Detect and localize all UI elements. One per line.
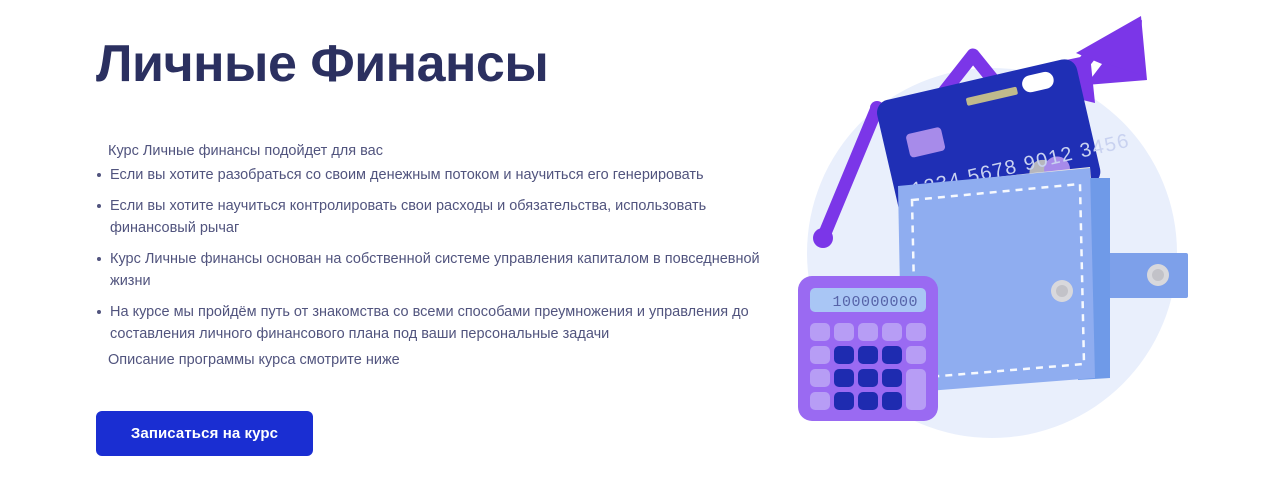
bullet-dot-icon <box>97 310 101 314</box>
list-item: Если вы хотите разобраться со своим дене… <box>96 164 768 186</box>
page-title: Личные Финансы <box>96 34 548 94</box>
list-item-label: Если вы хотите разобраться со своим дене… <box>110 167 704 183</box>
list-item: Если вы хотите научиться контролировать … <box>96 195 768 239</box>
enroll-course-button[interactable]: Записаться на курс <box>96 411 313 456</box>
hero-content: Личные Финансы Курс Личные финансы подой… <box>96 0 776 484</box>
page-root: Личные Финансы Курс Личные финансы подой… <box>0 0 1280 484</box>
bullet-dot-icon <box>97 173 101 177</box>
list-item: На курсе мы пройдём путь от знакомства с… <box>96 301 768 345</box>
personal-finance-illustration: 1234 5678 9012 3456 <box>790 8 1190 478</box>
list-item: Курс Личные финансы основан на собственн… <box>96 248 768 292</box>
calculator-icon: 100000000 <box>798 276 938 421</box>
calculator-display-value: 100000000 <box>832 294 918 311</box>
lead-paragraph: Курс Личные финансы подойдет для вас <box>108 141 383 161</box>
list-item-label: Если вы хотите научиться контролировать … <box>110 198 706 236</box>
list-item-label: Курс Личные финансы основан на собственн… <box>110 251 760 289</box>
bullet-dot-icon <box>97 257 101 261</box>
program-footnote: Описание программы курса смотрите ниже <box>108 350 400 370</box>
benefits-list: Если вы хотите разобраться со своим дене… <box>96 164 768 354</box>
list-item-label: На курсе мы пройдём путь от знакомства с… <box>110 304 749 342</box>
bullet-dot-icon <box>97 204 101 208</box>
